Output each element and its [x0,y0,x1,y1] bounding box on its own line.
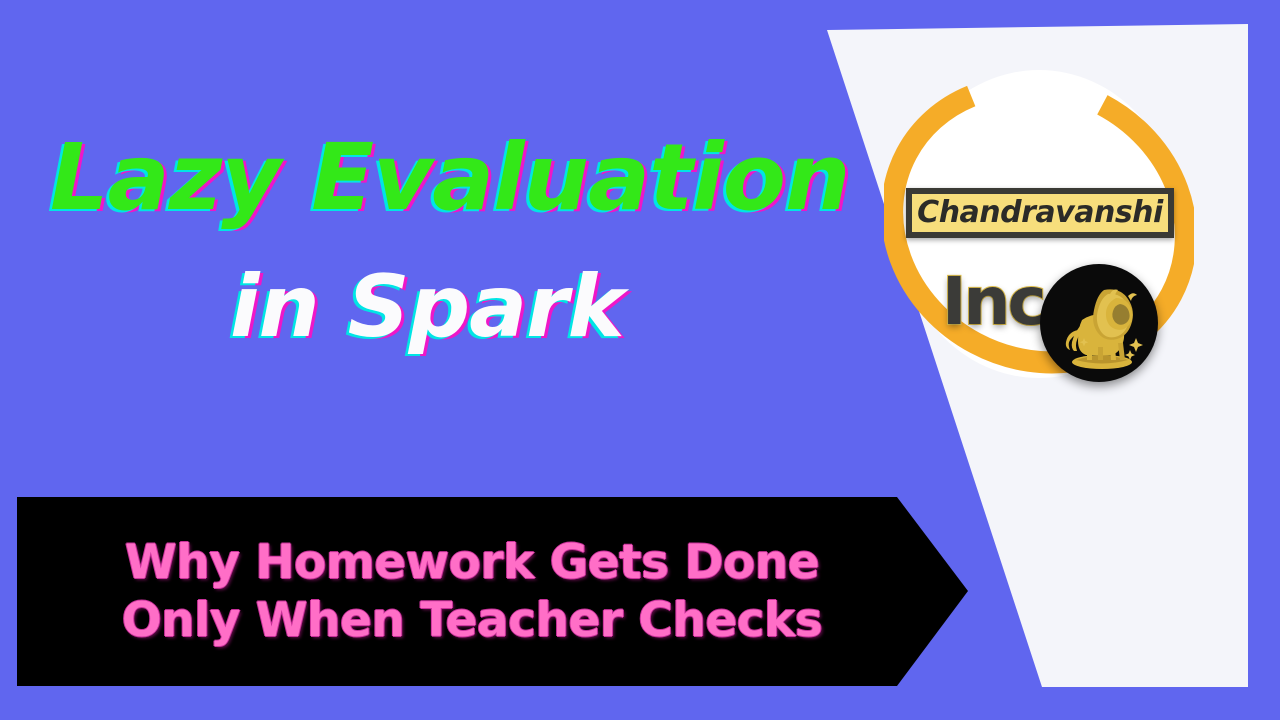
subtitle-arrow-banner: Why Homework Gets Done Only When Teacher… [17,497,968,686]
headline-line-2: in Spark [230,264,850,350]
brand-name-plate: Chandravanshi [906,188,1174,238]
lion-icon [1040,264,1158,382]
subtitle-line-2: Only When Teacher Checks [122,592,823,649]
brand-suffix-text: Inc [942,269,1044,335]
headline-line-1: Lazy Evaluation [50,132,850,224]
presentation-slide: Chandravanshi Inc [0,0,1280,720]
company-logo: Chandravanshi Inc [884,62,1194,392]
subtitle-line-1: Why Homework Gets Done [125,534,819,591]
brand-name-text: Chandravanshi [917,198,1163,228]
lion-badge [1040,264,1158,382]
headline-block: Lazy Evaluation in Spark [50,132,850,350]
subtitle-text-block: Why Homework Gets Done Only When Teacher… [17,497,897,686]
